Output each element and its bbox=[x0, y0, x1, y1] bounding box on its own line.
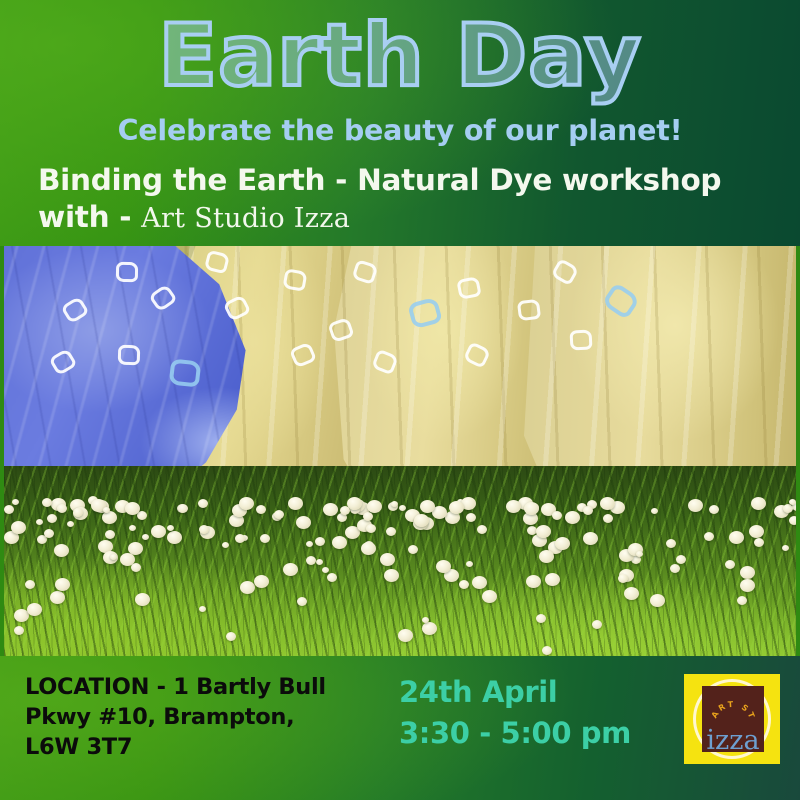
clover-flower bbox=[256, 505, 266, 514]
clover-flower bbox=[73, 508, 83, 517]
clover-flower bbox=[125, 502, 140, 515]
clover-flower bbox=[399, 505, 406, 511]
clover-flower bbox=[11, 521, 26, 534]
clover-flower bbox=[583, 506, 593, 515]
clover-flower bbox=[260, 534, 270, 543]
location-line-2: Pkwy #10, Brampton, bbox=[25, 704, 294, 730]
clover-flower bbox=[449, 501, 464, 514]
workshop-title-line1: Binding the Earth - Natural Dye workshop bbox=[38, 163, 721, 197]
clover-flower bbox=[239, 497, 254, 510]
clover-flower bbox=[283, 563, 298, 576]
art-studio-izza-logo[interactable]: ART STUDIO izza bbox=[684, 674, 780, 764]
clover-flower bbox=[12, 499, 19, 505]
clover-flower bbox=[316, 559, 323, 565]
bandhani-dot bbox=[517, 299, 541, 322]
bandhani-dot bbox=[569, 329, 592, 350]
clover-flower bbox=[422, 622, 437, 635]
clover-flower bbox=[676, 555, 686, 564]
clover-flower bbox=[592, 620, 602, 629]
clover-flower bbox=[380, 553, 395, 566]
datetime-block: 24th April 3:30 - 5:00 pm bbox=[399, 672, 669, 754]
location-block: LOCATION - 1 Bartly Bull Pkwy #10, Bramp… bbox=[25, 672, 385, 762]
clover-flower bbox=[222, 542, 229, 548]
clover-flower bbox=[408, 545, 418, 554]
clover-flower bbox=[110, 554, 117, 560]
poster-header: Earth Day Celebrate the beauty of our pl… bbox=[0, 0, 800, 246]
clover-flower bbox=[167, 531, 182, 544]
clover-flower bbox=[783, 504, 793, 513]
bandhani-dot bbox=[169, 359, 202, 388]
clover-flower bbox=[414, 514, 429, 527]
clover-flower bbox=[704, 532, 714, 541]
clover-flower bbox=[740, 579, 755, 592]
fabric-photo bbox=[4, 246, 796, 656]
clover-flower bbox=[482, 590, 497, 603]
clover-flower bbox=[725, 560, 735, 569]
clover-flower bbox=[650, 594, 665, 607]
clover-flower bbox=[729, 531, 744, 544]
clover-flower bbox=[142, 534, 149, 540]
photo-frame bbox=[0, 246, 800, 656]
clover-flower bbox=[198, 499, 208, 508]
clover-flower bbox=[315, 537, 325, 546]
clover-flower bbox=[422, 617, 429, 623]
clover-flower bbox=[552, 511, 562, 520]
clover-flower bbox=[105, 530, 115, 539]
clover-flower bbox=[44, 529, 54, 538]
workshop-with-label: with - bbox=[38, 200, 141, 234]
location-line-1: LOCATION - 1 Bartly Bull bbox=[25, 674, 326, 700]
clover-flower bbox=[740, 566, 755, 579]
clover-flower bbox=[240, 581, 255, 594]
clover-flower bbox=[384, 569, 399, 582]
clover-flower bbox=[789, 516, 796, 525]
clover-flower bbox=[709, 505, 719, 514]
clover-flower bbox=[555, 537, 570, 550]
clover-flower bbox=[226, 632, 236, 641]
clover-flower bbox=[102, 511, 117, 524]
poster-tagline: Celebrate the beauty of our planet! bbox=[0, 114, 800, 148]
clover-flower bbox=[782, 545, 789, 551]
clover-flower bbox=[466, 513, 476, 522]
page-title: Earth Day bbox=[0, 6, 800, 106]
svg-text:ART STUDIO: ART STUDIO bbox=[702, 686, 757, 721]
clover-flower bbox=[624, 587, 639, 600]
bandhani-dot bbox=[116, 262, 138, 282]
bandhani-dot bbox=[282, 268, 307, 292]
studio-name: Art Studio Izza bbox=[141, 203, 350, 234]
event-date: 24th April bbox=[399, 675, 557, 709]
clover-flower bbox=[178, 504, 188, 513]
clover-flower bbox=[135, 593, 150, 606]
clover-flower bbox=[57, 504, 67, 513]
clover-flower bbox=[565, 511, 580, 524]
logo-wordmark: izza bbox=[702, 726, 764, 756]
clover-flower bbox=[737, 596, 747, 605]
bandhani-dot bbox=[118, 345, 141, 366]
clover-flower bbox=[131, 563, 141, 572]
logo-inner-square: ART STUDIO izza bbox=[702, 686, 764, 752]
clover-flower bbox=[323, 503, 338, 516]
clover-flower bbox=[332, 536, 347, 549]
workshop-title: Binding the Earth - Natural Dye workshop… bbox=[38, 162, 786, 237]
clover-flower bbox=[235, 534, 245, 543]
clover-flower bbox=[367, 500, 382, 513]
clover-flower bbox=[477, 525, 487, 534]
location-line-3: L6W 3T7 bbox=[25, 734, 132, 760]
clover-flower bbox=[129, 525, 136, 531]
clover-flower bbox=[754, 538, 764, 547]
clover-flower bbox=[67, 521, 74, 527]
clover-flower bbox=[651, 508, 658, 514]
event-time: 3:30 - 5:00 pm bbox=[399, 716, 631, 750]
clover-flower bbox=[340, 506, 350, 515]
clover-flower bbox=[306, 541, 313, 547]
earth-day-poster: Earth Day Celebrate the beauty of our pl… bbox=[0, 0, 800, 800]
clover-flower bbox=[466, 561, 473, 567]
clover-flower bbox=[526, 575, 541, 588]
clover-flower bbox=[789, 499, 796, 505]
clover-flower bbox=[618, 574, 628, 583]
clover-flower bbox=[306, 556, 316, 565]
